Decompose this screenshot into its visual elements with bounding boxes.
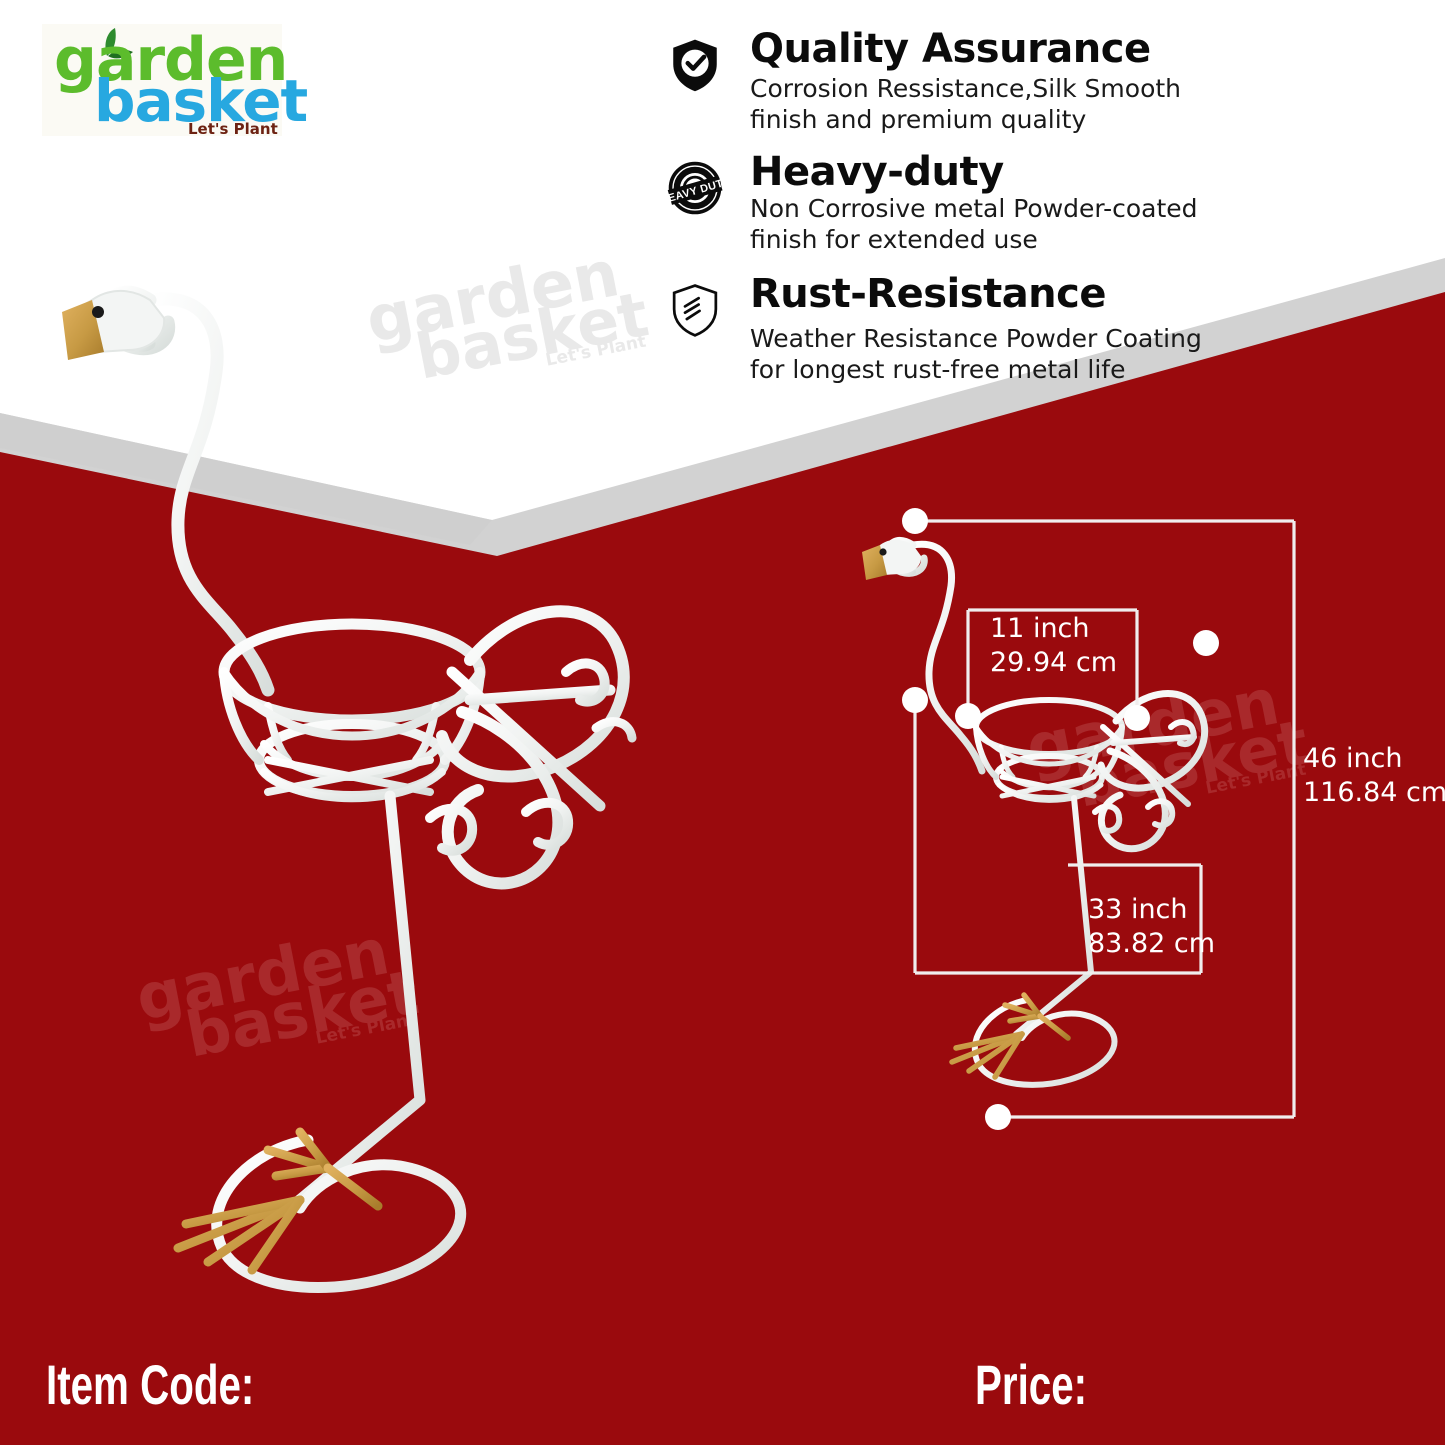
feature-title: Rust-Resistance — [750, 273, 1222, 315]
feature-body-line: for longest rust-free metal life — [750, 355, 1222, 386]
dimension-label-total-height: 46 inch 116.84 cm — [1303, 742, 1445, 810]
dimension-inch: 33 inch — [1088, 893, 1215, 927]
dimension-label-basket-width: 11 inch 29.94 cm — [990, 612, 1117, 680]
feature-title: Quality Assurance — [750, 28, 1222, 70]
feature-body-line: Non Corrosive metal Powder-coated — [750, 194, 1222, 225]
feature-body: Non Corrosive metal Powder-coated finish… — [750, 194, 1222, 255]
feature-list: Quality Assurance Corrosion Ressistance,… — [662, 28, 1222, 401]
dimension-cm: 83.82 cm — [1088, 927, 1215, 961]
infographic-canvas: garden basket Let's Plant garden basket … — [0, 0, 1445, 1445]
logo-tagline: Let's Plant — [188, 120, 278, 138]
dimension-inch: 11 inch — [990, 612, 1117, 646]
heavy-duty-stamp-icon: HEAVY DUTY — [666, 159, 724, 217]
feature-body-line: finish and premium quality — [750, 105, 1222, 136]
price-label: Price: — [975, 1352, 1087, 1417]
dimension-label-leg-height: 33 inch 83.82 cm — [1088, 893, 1215, 961]
dimension-cm: 116.84 cm — [1303, 776, 1445, 810]
feature-body-line: Weather Resistance Powder Coating — [750, 324, 1222, 355]
feature-body-line: Corrosion Ressistance,Silk Smooth — [750, 74, 1222, 105]
feature-rust-resistance: Rust-Resistance Weather Resistance Powde… — [662, 273, 1222, 385]
shield-lines-icon — [666, 281, 724, 339]
feature-body: Weather Resistance Powder Coating for lo… — [750, 324, 1222, 385]
dimension-cm: 29.94 cm — [990, 646, 1117, 680]
feature-body-line: finish for extended use — [750, 225, 1222, 256]
feature-body: Corrosion Ressistance,Silk Smooth finish… — [750, 74, 1222, 135]
feature-title: Heavy-duty — [750, 151, 1222, 193]
shield-check-icon — [666, 36, 724, 94]
item-code-label: Item Code: — [46, 1352, 254, 1417]
brand-logo[interactable]: garden basket Let's Plant — [42, 24, 282, 136]
feature-quality-assurance: Quality Assurance Corrosion Ressistance,… — [662, 28, 1222, 135]
feature-heavy-duty: HEAVY DUTY Heavy-duty Non Corrosive meta… — [662, 151, 1222, 255]
dimension-inch: 46 inch — [1303, 742, 1445, 776]
